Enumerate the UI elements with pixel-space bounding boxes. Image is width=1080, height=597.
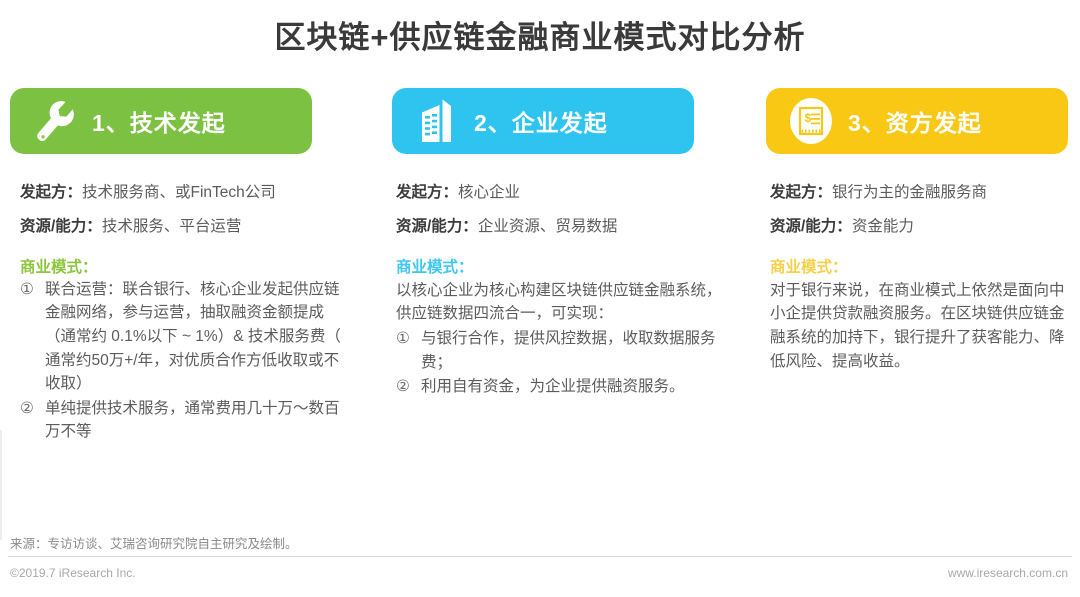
column-3-resource-key: 资源/能力： bbox=[770, 218, 852, 235]
list-item-text: 联合运营：联合银行、核心企业发起供应链金融网络，参与运营，抽取融资金额提成（通常… bbox=[45, 281, 341, 392]
column-2-resource-key: 资源/能力： bbox=[396, 218, 478, 235]
column-1-resource-value: 技术服务、平台运营 bbox=[102, 218, 242, 235]
column-2-mode-list: ①与银行合作，提供风控数据，收取数据服务费； ②利用自有资金，为企业提供融资服务… bbox=[396, 327, 724, 399]
column-2-header[interactable]: 2、企业发起 bbox=[392, 88, 694, 154]
copyright-text: ©2019.7 iResearch Inc. bbox=[10, 566, 136, 580]
list-item-text: 单纯提供技术服务，通常费用几十万～数百万不等 bbox=[45, 400, 340, 441]
column-3-title: 3、资方发起 bbox=[848, 104, 982, 138]
column-3-initiator: 发起方：银行为主的金融服务商 bbox=[770, 182, 1072, 204]
column-3-initiator-key: 发起方： bbox=[770, 184, 832, 201]
list-item-number: ② bbox=[20, 397, 40, 421]
column-3-mode-intro: 对于银行来说，在商业模式上依然是面向中小企提供贷款融资服务。在区块链供应链金融系… bbox=[770, 279, 1072, 373]
column-2-initiator: 发起方：核心企业 bbox=[396, 182, 724, 204]
column-3-mode-label: 商业模式： bbox=[770, 255, 1072, 277]
column-1-initiator-key: 发起方： bbox=[20, 184, 82, 201]
column-2-body: 发起方：核心企业 资源/能力：企业资源、贸易数据 商业模式： 以核心企业为核心构… bbox=[382, 154, 724, 399]
list-item-number: ① bbox=[20, 278, 40, 302]
column-2-title: 2、企业发起 bbox=[474, 104, 608, 138]
infographic-page: 区块链+供应链金融商业模式对比分析 1、技术发起 发起方：技术服务商、或FinT… bbox=[0, 0, 1080, 597]
list-item-text: 利用自有资金，为企业提供融资服务。 bbox=[421, 378, 685, 395]
column-2-initiator-key: 发起方： bbox=[396, 184, 458, 201]
svg-text:$: $ bbox=[805, 111, 812, 125]
column-3-resource-value: 资金能力 bbox=[852, 218, 914, 235]
column-3-initiator-value: 银行为主的金融服务商 bbox=[832, 184, 987, 201]
column-3-header[interactable]: $ bbox=[766, 88, 1068, 154]
columns-container: 1、技术发起 发起方：技术服务商、或FinTech公司 资源/能力：技术服务、平… bbox=[0, 88, 1080, 528]
column-2-mode-label: 商业模式： bbox=[396, 255, 724, 277]
source-note: 来源：专访访谈、艾瑞咨询研究院自主研究及绘制。 bbox=[10, 533, 298, 552]
column-technology-initiated: 1、技术发起 发起方：技术服务商、或FinTech公司 资源/能力：技术服务、平… bbox=[0, 88, 372, 528]
column-2-resource-value: 企业资源、贸易数据 bbox=[478, 218, 618, 235]
footer-divider bbox=[8, 556, 1072, 557]
column-3-body: 发起方：银行为主的金融服务商 资源/能力：资金能力 商业模式： 对于银行来说，在… bbox=[752, 154, 1072, 373]
list-item-number: ② bbox=[396, 375, 416, 399]
column-3-resource: 资源/能力：资金能力 bbox=[770, 216, 1072, 238]
left-edge-divider bbox=[0, 430, 2, 540]
column-2-initiator-value: 核心企业 bbox=[458, 184, 520, 201]
website-url: www.iresearch.com.cn bbox=[948, 566, 1068, 580]
building-icon bbox=[406, 93, 468, 149]
invoice-money-icon: $ bbox=[780, 93, 842, 149]
wrench-icon bbox=[24, 93, 86, 149]
column-2-mode-intro: 以核心企业为核心构建区块链供应链金融系统，供应链数据四流合一，可实现： bbox=[396, 279, 724, 326]
column-2-resource: 资源/能力：企业资源、贸易数据 bbox=[396, 216, 724, 238]
page-title: 区块链+供应链金融商业模式对比分析 bbox=[0, 12, 1080, 57]
column-1-mode-label: 商业模式： bbox=[20, 255, 354, 277]
column-enterprise-initiated: 2、企业发起 发起方：核心企业 资源/能力：企业资源、贸易数据 商业模式： 以核… bbox=[372, 88, 738, 528]
column-1-title: 1、技术发起 bbox=[92, 104, 226, 138]
list-item: ②利用自有资金，为企业提供融资服务。 bbox=[396, 375, 724, 399]
list-item-text: 与银行合作，提供风控数据，收取数据服务费； bbox=[421, 330, 716, 371]
list-item-number: ① bbox=[396, 327, 416, 351]
list-item: ②单纯提供技术服务，通常费用几十万～数百万不等 bbox=[20, 397, 354, 444]
column-1-initiator-value: 技术服务商、或FinTech公司 bbox=[82, 184, 276, 201]
column-1-resource: 资源/能力：技术服务、平台运营 bbox=[20, 216, 354, 238]
column-1-initiator: 发起方：技术服务商、或FinTech公司 bbox=[20, 182, 354, 204]
column-1-resource-key: 资源/能力： bbox=[20, 218, 102, 235]
column-1-body: 发起方：技术服务商、或FinTech公司 资源/能力：技术服务、平台运营 商业模… bbox=[10, 154, 354, 444]
column-1-mode-list: ①联合运营：联合银行、核心企业发起供应链金融网络，参与运营，抽取融资金额提成（通… bbox=[20, 278, 354, 444]
list-item: ①联合运营：联合银行、核心企业发起供应链金融网络，参与运营，抽取融资金额提成（通… bbox=[20, 278, 354, 396]
column-capital-initiated: $ bbox=[738, 88, 1080, 528]
column-1-header[interactable]: 1、技术发起 bbox=[10, 88, 312, 154]
list-item: ①与银行合作，提供风控数据，收取数据服务费； bbox=[396, 327, 724, 374]
